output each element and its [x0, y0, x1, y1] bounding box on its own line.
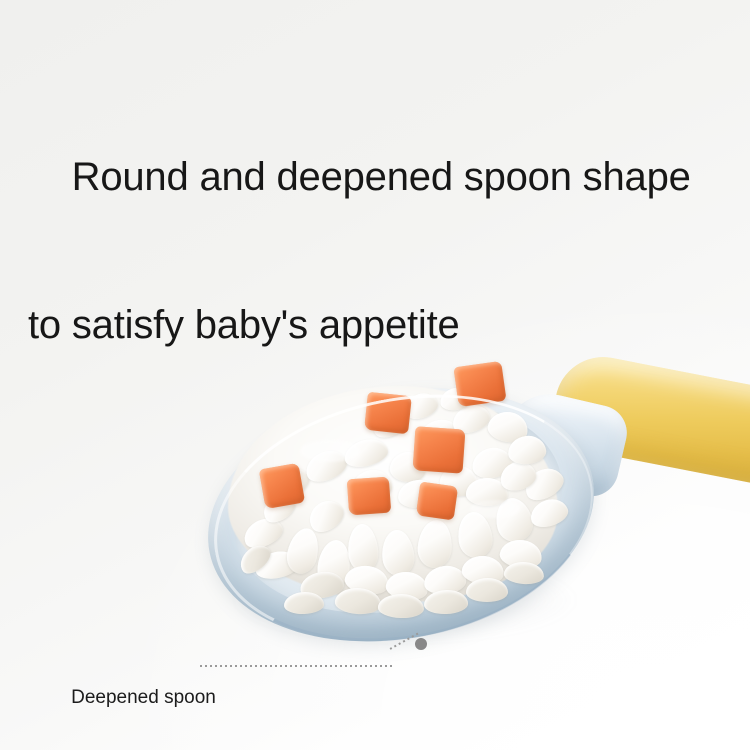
rice-grain — [253, 548, 301, 583]
rice-grain — [239, 513, 286, 553]
headline-line-2: to satisfy baby's appetite — [28, 288, 728, 362]
rice-grain — [466, 578, 508, 602]
rice-grain — [455, 510, 495, 560]
callout-text: Deepened spoon head design — [50, 630, 216, 750]
rice-grain — [384, 569, 429, 603]
rice-grain — [298, 569, 345, 601]
rice-grain — [416, 519, 453, 569]
rice-grain — [380, 528, 417, 577]
rice-grain — [378, 593, 425, 619]
rice-grain — [343, 562, 391, 597]
callout-leader-dot — [415, 638, 427, 650]
headline: Round and deepened spoon shape to satisf… — [28, 66, 728, 510]
headline-line-1: Round and deepened spoon shape — [72, 155, 691, 199]
rice-grain — [423, 564, 468, 596]
spoon-drop-shadow — [230, 560, 580, 640]
product-feature-image: Round and deepened spoon shape to satisf… — [0, 0, 750, 750]
rice-grain — [461, 554, 506, 586]
rice-grain — [334, 586, 382, 615]
rice-grain — [235, 540, 275, 579]
rice-grain — [346, 523, 379, 573]
rice-grain — [503, 561, 544, 586]
rice-grain — [424, 589, 469, 615]
rice-grain — [316, 538, 353, 589]
callout-leader-line-horizontal — [200, 665, 392, 667]
rice-grain — [284, 525, 323, 576]
callout-line-1: Deepened spoon — [71, 687, 216, 708]
rice-grain — [284, 591, 325, 614]
rice-grain — [498, 537, 543, 571]
